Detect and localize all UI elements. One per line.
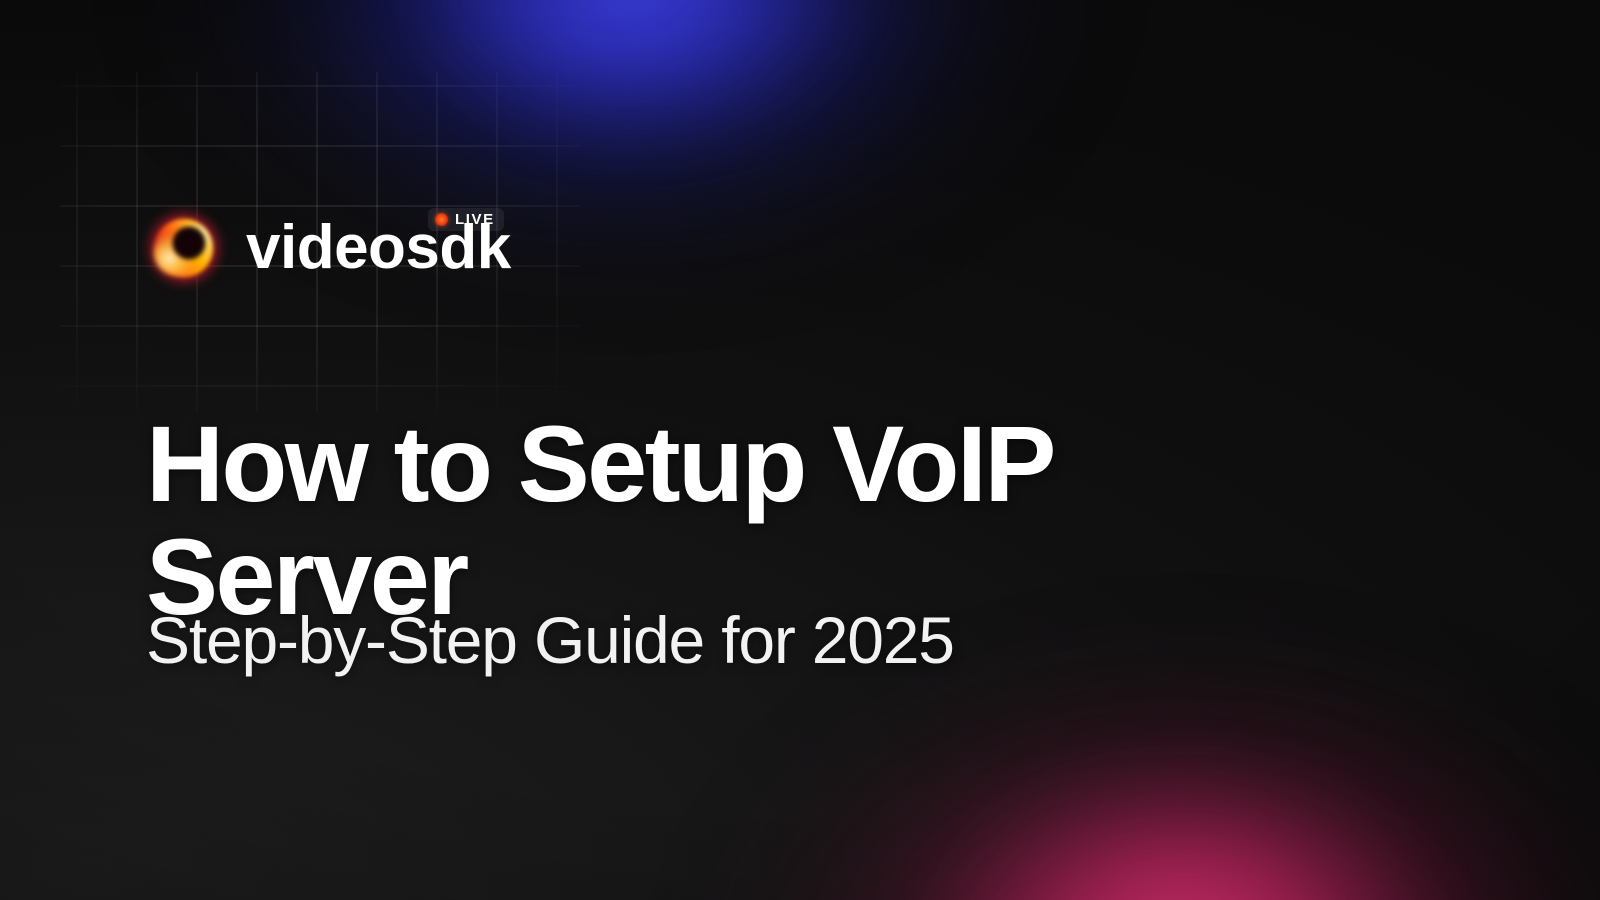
page-title: How to Setup VoIP Server bbox=[146, 408, 1266, 633]
hero-content: videosdk LIVE How to Setup VoIP Server S… bbox=[146, 0, 1446, 900]
page-subtitle: Step-by-Step Guide for 2025 bbox=[146, 605, 1386, 676]
status-badge: LIVE bbox=[428, 208, 504, 231]
hero-banner: videosdk LIVE How to Setup VoIP Server S… bbox=[0, 0, 1600, 900]
black-hole-icon bbox=[144, 208, 224, 288]
live-badge-label: LIVE bbox=[455, 212, 495, 227]
brand-lockup: videosdk LIVE bbox=[146, 208, 511, 288]
page-title-line-1: How to Setup VoIP bbox=[146, 408, 1266, 520]
live-record-dot-icon bbox=[435, 213, 448, 226]
black-hole-shadow bbox=[172, 227, 205, 260]
